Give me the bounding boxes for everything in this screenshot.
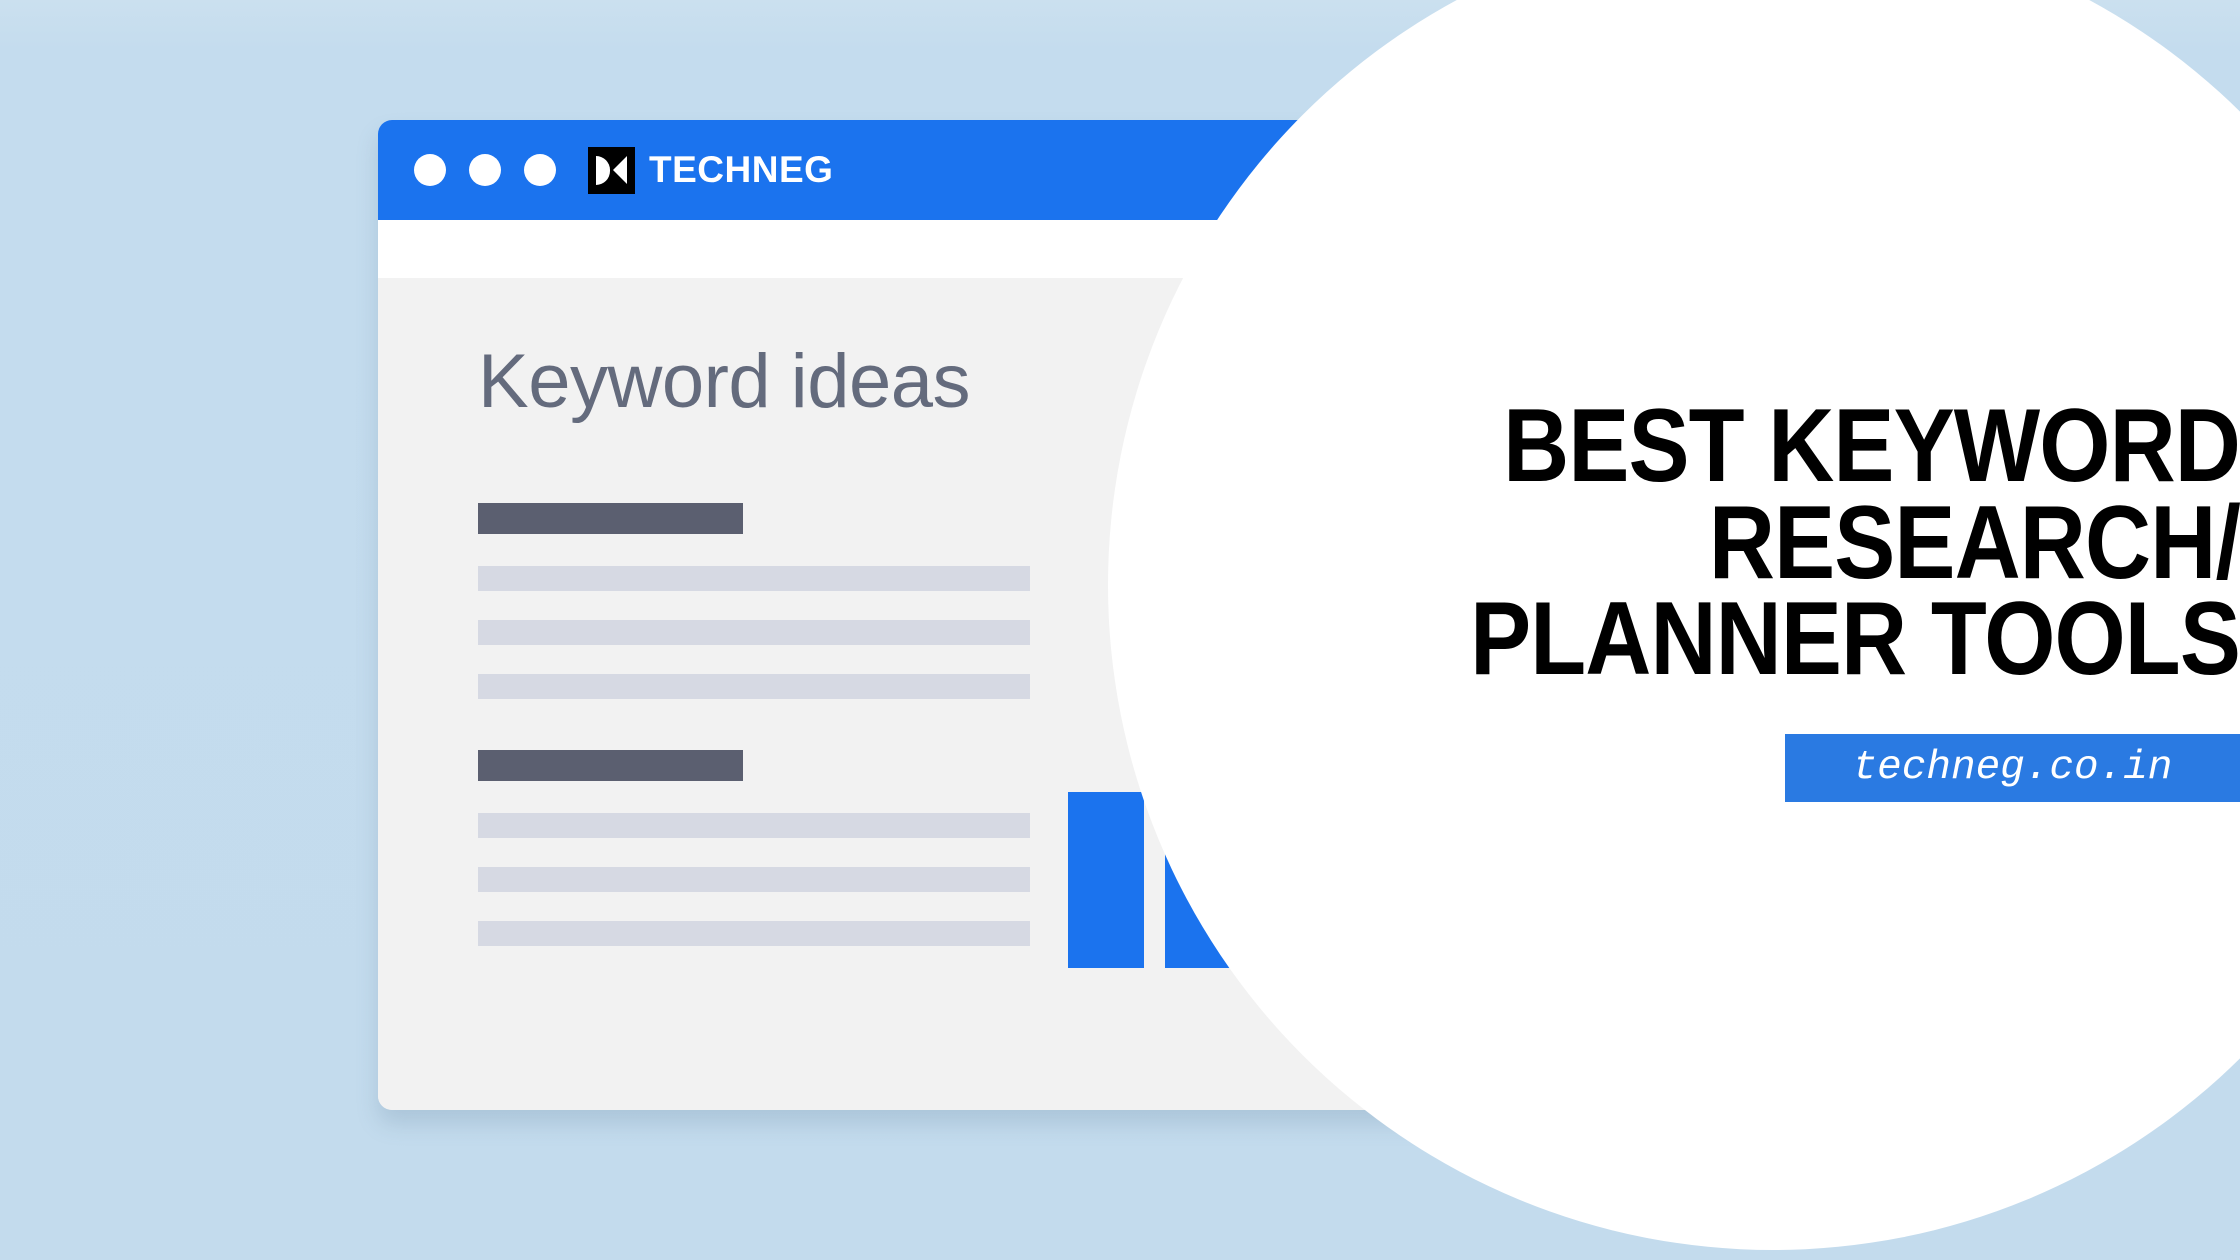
logo-d-shape <box>596 156 610 185</box>
maximize-dot-icon[interactable] <box>524 154 556 186</box>
skeleton-line-bar <box>478 674 1030 699</box>
skeleton-group-2 <box>478 750 1030 946</box>
skeleton-line-bar <box>478 921 1030 946</box>
skeleton-line-bar <box>478 620 1030 645</box>
brand-group: TECHNEG <box>588 147 833 194</box>
skeleton-group-1 <box>478 503 1030 699</box>
chart-bar-1 <box>1068 792 1144 968</box>
logo-triangle-shape <box>613 156 627 184</box>
close-dot-icon[interactable] <box>414 154 446 186</box>
skeleton-line-bar <box>478 867 1030 892</box>
minimize-dot-icon[interactable] <box>469 154 501 186</box>
skeleton-line-bar <box>478 813 1030 838</box>
promo-heading: BEST KEYWORD RESEARCH/ PLANNER TOOLS <box>1413 398 2240 688</box>
brand-name-label: TECHNEG <box>649 149 833 191</box>
skeleton-heading-bar <box>478 750 743 781</box>
skeleton-line-bar <box>478 566 1030 591</box>
skeleton-heading-bar <box>478 503 743 534</box>
poster-canvas: TECHNEG Keyword ideas <box>0 0 2240 1260</box>
page-title: Keyword ideas <box>478 338 970 425</box>
url-label: techneg.co.in <box>1853 745 2173 791</box>
promo-block: BEST KEYWORD RESEARCH/ PLANNER TOOLS tec… <box>1300 398 2240 802</box>
techneg-logo-icon <box>588 147 635 194</box>
url-badge[interactable]: techneg.co.in <box>1785 734 2240 802</box>
